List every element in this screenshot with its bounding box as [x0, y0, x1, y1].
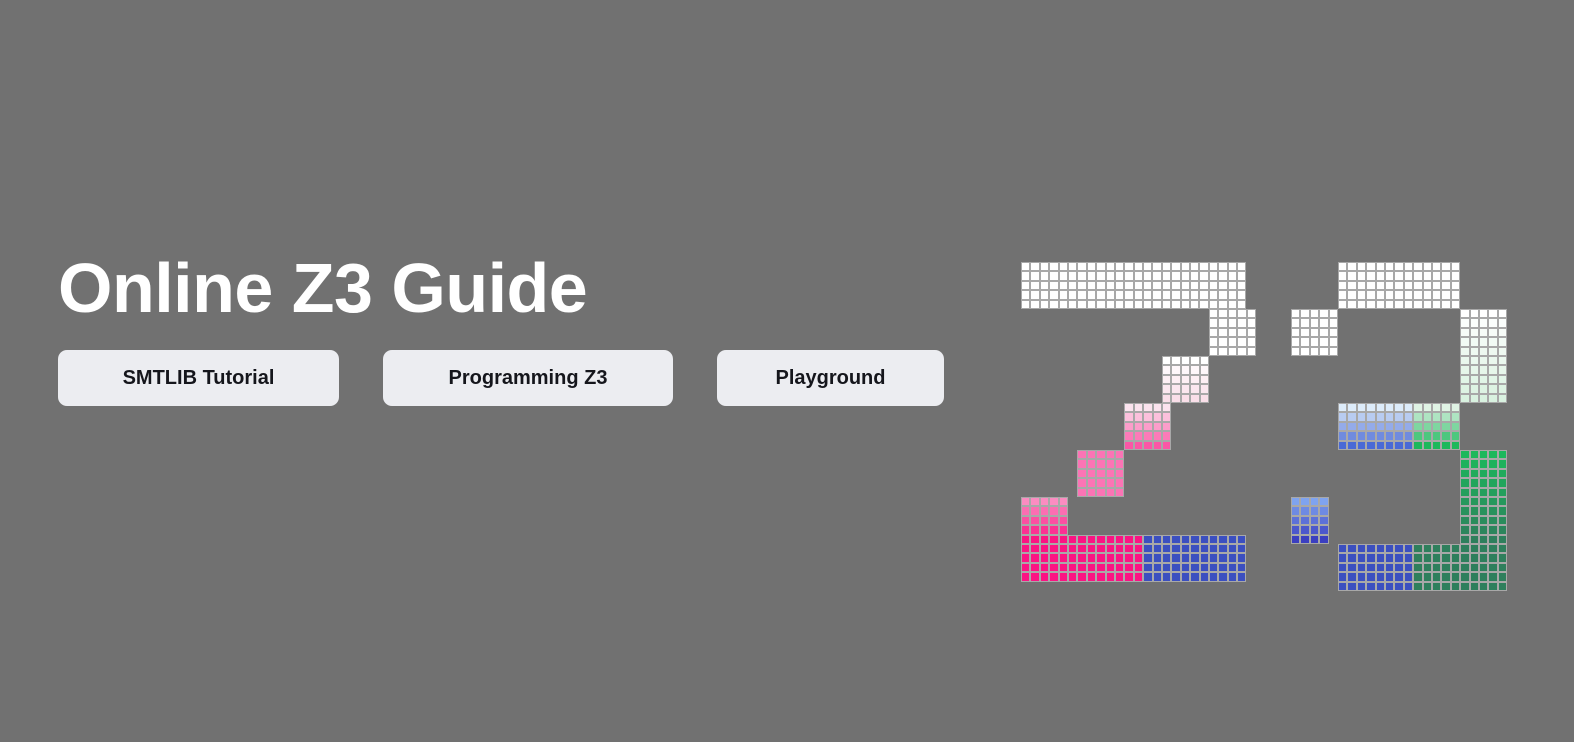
logo-cell: [1059, 506, 1068, 515]
logo-cell: [1460, 356, 1469, 365]
logo-cell: [1077, 469, 1086, 478]
logo-cell: [1021, 262, 1030, 271]
logo-cell: [1488, 469, 1497, 478]
logo-cell: [1218, 271, 1227, 280]
logo-cell: [1385, 572, 1394, 581]
logo-cell: [1190, 375, 1199, 384]
logo-cell: [1460, 365, 1469, 374]
logo-cell: [1153, 563, 1162, 572]
logo-cell: [1366, 441, 1375, 450]
logo-cell: [1171, 356, 1180, 365]
logo-cell: [1423, 290, 1432, 299]
logo-cell: [1209, 318, 1218, 327]
logo-cell: [1087, 290, 1096, 299]
logo-cell: [1181, 356, 1190, 365]
logo-cell: [1404, 563, 1413, 572]
logo-cell: [1329, 318, 1338, 327]
logo-cell: [1040, 572, 1049, 581]
logo-cell: [1143, 535, 1152, 544]
logo-cell: [1181, 553, 1190, 562]
logo-cell: [1470, 356, 1479, 365]
logo-cell: [1068, 262, 1077, 271]
logo-cell: [1152, 290, 1161, 299]
logo-cell: [1218, 535, 1227, 544]
logo-cell: [1171, 262, 1180, 271]
logo-cell: [1124, 544, 1133, 553]
playground-button[interactable]: Playground: [717, 350, 944, 406]
logo-cell: [1021, 553, 1030, 562]
logo-cell: [1460, 516, 1469, 525]
logo-cell: [1153, 553, 1162, 562]
logo-cell: [1488, 506, 1497, 515]
logo-cell: [1479, 478, 1488, 487]
logo-cell: [1115, 459, 1124, 468]
logo-cell: [1209, 572, 1218, 581]
logo-cell: [1470, 394, 1479, 403]
logo-cell: [1498, 553, 1507, 562]
logo-cell: [1329, 337, 1338, 346]
logo-cell: [1171, 572, 1180, 581]
logo-cell: [1124, 281, 1133, 290]
logo-cell: [1106, 290, 1115, 299]
logo-cell: [1319, 525, 1328, 534]
logo-cell: [1190, 271, 1199, 280]
logo-cell: [1077, 572, 1086, 581]
logo-cell: [1030, 544, 1039, 553]
logo-cell: [1385, 422, 1394, 431]
logo-cell: [1451, 422, 1460, 431]
logo-cell: [1338, 300, 1347, 309]
logo-cell: [1394, 422, 1403, 431]
logo-cell: [1413, 271, 1422, 280]
logo-cell: [1347, 281, 1356, 290]
logo-cell: [1124, 271, 1133, 280]
logo-cell: [1460, 394, 1469, 403]
logo-cell: [1077, 563, 1086, 572]
logo-cell: [1218, 544, 1227, 553]
logo-cell: [1366, 281, 1375, 290]
logo-cell: [1488, 553, 1497, 562]
logo-cell: [1291, 535, 1300, 544]
logo-cell: [1385, 553, 1394, 562]
logo-cell: [1347, 290, 1356, 299]
logo-cell: [1200, 365, 1209, 374]
logo-cell: [1479, 318, 1488, 327]
logo-cell: [1423, 572, 1432, 581]
logo-cell: [1209, 544, 1218, 553]
logo-cell: [1451, 262, 1460, 271]
logo-cell: [1106, 300, 1115, 309]
logo-cell: [1021, 497, 1030, 506]
logo-cell: [1143, 422, 1152, 431]
logo-cell: [1451, 544, 1460, 553]
logo-cell: [1096, 450, 1105, 459]
logo-cell: [1498, 488, 1507, 497]
logo-cell: [1106, 271, 1115, 280]
logo-cell: [1059, 544, 1068, 553]
logo-cell: [1218, 572, 1227, 581]
logo-cell: [1228, 271, 1237, 280]
logo-cell: [1347, 441, 1356, 450]
logo-cell: [1432, 412, 1441, 421]
logo-cell: [1413, 412, 1422, 421]
logo-cell: [1394, 563, 1403, 572]
logo-cell: [1087, 281, 1096, 290]
logo-cell: [1376, 281, 1385, 290]
logo-cell: [1310, 525, 1319, 534]
smtlib-tutorial-button[interactable]: SMTLIB Tutorial: [58, 350, 339, 406]
logo-cell: [1460, 553, 1469, 562]
logo-cell: [1376, 271, 1385, 280]
logo-cell: [1329, 328, 1338, 337]
logo-cell: [1162, 422, 1171, 431]
logo-cell: [1488, 318, 1497, 327]
logo-cell: [1059, 525, 1068, 534]
logo-cell: [1049, 553, 1058, 562]
programming-z3-button[interactable]: Programming Z3: [383, 350, 673, 406]
logo-cell: [1498, 478, 1507, 487]
logo-cell: [1228, 563, 1237, 572]
logo-cell: [1106, 553, 1115, 562]
logo-cell: [1152, 281, 1161, 290]
logo-cell: [1470, 488, 1479, 497]
logo-cell: [1319, 535, 1328, 544]
logo-cell: [1291, 328, 1300, 337]
logo-cell: [1488, 365, 1497, 374]
logo-cell: [1209, 262, 1218, 271]
logo-cell: [1385, 441, 1394, 450]
logo-cell: [1096, 262, 1105, 271]
logo-cell: [1488, 384, 1497, 393]
logo-cell: [1310, 309, 1319, 318]
logo-cell: [1347, 563, 1356, 572]
logo-cell: [1162, 535, 1171, 544]
logo-cell: [1357, 271, 1366, 280]
logo-cell: [1030, 525, 1039, 534]
logo-cell: [1479, 488, 1488, 497]
logo-cell: [1237, 535, 1246, 544]
logo-cell: [1162, 572, 1171, 581]
logo-cell: [1423, 281, 1432, 290]
logo-cell: [1479, 535, 1488, 544]
logo-cell: [1115, 469, 1124, 478]
logo-cell: [1451, 431, 1460, 440]
logo-cell: [1488, 544, 1497, 553]
logo-cell: [1049, 572, 1058, 581]
logo-cell: [1291, 497, 1300, 506]
logo-cell: [1488, 525, 1497, 534]
logo-cell: [1385, 262, 1394, 271]
logo-cell: [1030, 497, 1039, 506]
logo-cell: [1470, 375, 1479, 384]
three-bot-blue: [1338, 544, 1413, 591]
logo-cell: [1181, 375, 1190, 384]
logo-cell: [1237, 563, 1246, 572]
logo-cell: [1077, 262, 1086, 271]
logo-cell: [1096, 271, 1105, 280]
logo-cell: [1030, 300, 1039, 309]
logo-cell: [1488, 450, 1497, 459]
logo-cell: [1366, 412, 1375, 421]
logo-cell: [1441, 412, 1450, 421]
logo-cell: [1237, 544, 1246, 553]
logo-cell: [1441, 422, 1450, 431]
logo-cell: [1376, 441, 1385, 450]
logo-cell: [1143, 563, 1152, 572]
logo-cell: [1300, 535, 1309, 544]
logo-cell: [1488, 347, 1497, 356]
logo-cell: [1432, 281, 1441, 290]
logo-cell: [1171, 281, 1180, 290]
logo-cell: [1460, 450, 1469, 459]
logo-cell: [1291, 318, 1300, 327]
logo-cell: [1199, 290, 1208, 299]
hero-button-row: SMTLIB Tutorial Programming Z3 Playgroun…: [58, 350, 958, 406]
logo-cell: [1040, 506, 1049, 515]
logo-cell: [1498, 497, 1507, 506]
logo-cell: [1394, 582, 1403, 591]
logo-cell: [1190, 356, 1199, 365]
logo-cell: [1423, 431, 1432, 440]
logo-cell: [1488, 535, 1497, 544]
logo-cell: [1059, 290, 1068, 299]
logo-cell: [1181, 535, 1190, 544]
logo-cell: [1021, 572, 1030, 581]
logo-cell: [1376, 422, 1385, 431]
logo-cell: [1181, 271, 1190, 280]
logo-cell: [1049, 497, 1058, 506]
logo-cell: [1021, 563, 1030, 572]
z-step-3: [1077, 450, 1124, 497]
logo-cell: [1441, 553, 1450, 562]
logo-cell: [1021, 290, 1030, 299]
logo-cell: [1096, 478, 1105, 487]
logo-cell: [1470, 384, 1479, 393]
logo-cell: [1190, 384, 1199, 393]
logo-cell: [1441, 300, 1450, 309]
logo-cell: [1498, 384, 1507, 393]
logo-cell: [1106, 262, 1115, 271]
logo-cell: [1171, 300, 1180, 309]
logo-cell: [1143, 281, 1152, 290]
logo-cell: [1228, 544, 1237, 553]
logo-cell: [1087, 535, 1096, 544]
logo-cell: [1162, 431, 1171, 440]
logo-cell: [1479, 516, 1488, 525]
logo-cell: [1300, 318, 1309, 327]
logo-cell: [1228, 572, 1237, 581]
logo-cell: [1432, 553, 1441, 562]
logo-cell: [1237, 290, 1246, 299]
logo-cell: [1237, 572, 1246, 581]
logo-cell: [1488, 459, 1497, 468]
logo-cell: [1030, 506, 1039, 515]
logo-cell: [1247, 337, 1256, 346]
logo-cell: [1106, 450, 1115, 459]
logo-cell: [1096, 572, 1105, 581]
logo-cell: [1190, 553, 1199, 562]
logo-cell: [1432, 563, 1441, 572]
logo-cell: [1162, 281, 1171, 290]
logo-cell: [1357, 281, 1366, 290]
logo-cell: [1087, 563, 1096, 572]
logo-cell: [1470, 318, 1479, 327]
logo-cell: [1310, 535, 1319, 544]
logo-cell: [1347, 422, 1356, 431]
logo-cell: [1218, 309, 1227, 318]
logo-cell: [1310, 506, 1319, 515]
logo-cell: [1181, 572, 1190, 581]
logo-cell: [1218, 347, 1227, 356]
logo-cell: [1162, 271, 1171, 280]
logo-cell: [1460, 375, 1469, 384]
logo-cell: [1068, 535, 1077, 544]
logo-cell: [1479, 337, 1488, 346]
logo-cell: [1451, 290, 1460, 299]
logo-cell: [1338, 271, 1347, 280]
logo-cell: [1451, 441, 1460, 450]
logo-cell: [1413, 431, 1422, 440]
three-bot-green: [1413, 544, 1507, 591]
logo-cell: [1310, 347, 1319, 356]
logo-cell: [1171, 290, 1180, 299]
logo-cell: [1021, 300, 1030, 309]
logo-cell: [1209, 271, 1218, 280]
logo-cell: [1077, 290, 1086, 299]
logo-cell: [1077, 488, 1086, 497]
logo-cell: [1181, 290, 1190, 299]
logo-cell: [1049, 300, 1058, 309]
logo-cell: [1087, 271, 1096, 280]
logo-cell: [1218, 300, 1227, 309]
logo-cell: [1470, 328, 1479, 337]
logo-cell: [1200, 553, 1209, 562]
logo-cell: [1021, 516, 1030, 525]
logo-cell: [1030, 271, 1039, 280]
hero-section: Online Z3 Guide SMTLIB Tutorial Programm…: [0, 0, 1574, 742]
logo-cell: [1291, 525, 1300, 534]
logo-cell: [1413, 281, 1422, 290]
logo-cell: [1134, 572, 1143, 581]
logo-cell: [1441, 441, 1450, 450]
logo-cell: [1040, 516, 1049, 525]
logo-cell: [1209, 300, 1218, 309]
logo-cell: [1451, 403, 1460, 412]
three-top-bar: [1338, 262, 1460, 309]
logo-cell: [1162, 403, 1171, 412]
logo-cell: [1432, 431, 1441, 440]
logo-cell: [1385, 582, 1394, 591]
logo-cell: [1096, 563, 1105, 572]
logo-cell: [1040, 544, 1049, 553]
logo-cell: [1247, 309, 1256, 318]
logo-cell: [1479, 553, 1488, 562]
logo-cell: [1470, 459, 1479, 468]
logo-cell: [1470, 572, 1479, 581]
logo-cell: [1300, 328, 1309, 337]
logo-cell: [1404, 572, 1413, 581]
logo-cell: [1291, 337, 1300, 346]
logo-cell: [1413, 300, 1422, 309]
logo-cell: [1479, 497, 1488, 506]
logo-cell: [1162, 262, 1171, 271]
logo-cell: [1124, 422, 1133, 431]
logo-cell: [1021, 544, 1030, 553]
logo-cell: [1171, 384, 1180, 393]
logo-cell: [1153, 412, 1162, 421]
logo-cell: [1096, 544, 1105, 553]
logo-cell: [1423, 553, 1432, 562]
logo-cell: [1030, 281, 1039, 290]
logo-cell: [1404, 582, 1413, 591]
logo-cell: [1068, 572, 1077, 581]
logo-cell: [1143, 271, 1152, 280]
logo-cell: [1059, 497, 1068, 506]
logo-cell: [1059, 281, 1068, 290]
logo-cell: [1124, 262, 1133, 271]
logo-cell: [1153, 441, 1162, 450]
logo-cell: [1190, 563, 1199, 572]
logo-cell: [1376, 290, 1385, 299]
logo-cell: [1404, 441, 1413, 450]
logo-cell: [1357, 441, 1366, 450]
logo-cell: [1096, 459, 1105, 468]
logo-cell: [1451, 553, 1460, 562]
logo-cell: [1218, 281, 1227, 290]
logo-cell: [1153, 422, 1162, 431]
z-step-2: [1124, 403, 1171, 450]
logo-cell: [1441, 572, 1450, 581]
logo-cell: [1357, 572, 1366, 581]
z-bottom-pink: [1021, 535, 1143, 582]
logo-cell: [1394, 262, 1403, 271]
logo-cell: [1171, 563, 1180, 572]
logo-cell: [1040, 563, 1049, 572]
logo-cell: [1106, 544, 1115, 553]
logo-cell: [1460, 347, 1469, 356]
logo-cell: [1488, 356, 1497, 365]
logo-cell: [1488, 328, 1497, 337]
logo-cell: [1376, 431, 1385, 440]
logo-cell: [1394, 412, 1403, 421]
logo-cell: [1319, 328, 1328, 337]
logo-cell: [1479, 572, 1488, 581]
logo-cell: [1040, 525, 1049, 534]
logo-cell: [1479, 459, 1488, 468]
logo-cell: [1106, 478, 1115, 487]
logo-cell: [1228, 328, 1237, 337]
logo-cell: [1347, 553, 1356, 562]
logo-cell: [1068, 271, 1077, 280]
logo-cell: [1310, 328, 1319, 337]
logo-cell: [1470, 506, 1479, 515]
logo-cell: [1488, 375, 1497, 384]
logo-cell: [1329, 347, 1338, 356]
logo-cell: [1049, 506, 1058, 515]
logo-cell: [1237, 262, 1246, 271]
logo-cell: [1068, 553, 1077, 562]
logo-cell: [1143, 572, 1152, 581]
logo-cell: [1049, 544, 1058, 553]
logo-cell: [1498, 563, 1507, 572]
logo-cell: [1479, 544, 1488, 553]
z3-pixel-logo: [1021, 262, 1521, 587]
logo-cell: [1106, 459, 1115, 468]
logo-cell: [1030, 535, 1039, 544]
logo-cell: [1423, 582, 1432, 591]
logo-cell: [1115, 544, 1124, 553]
logo-cell: [1423, 300, 1432, 309]
